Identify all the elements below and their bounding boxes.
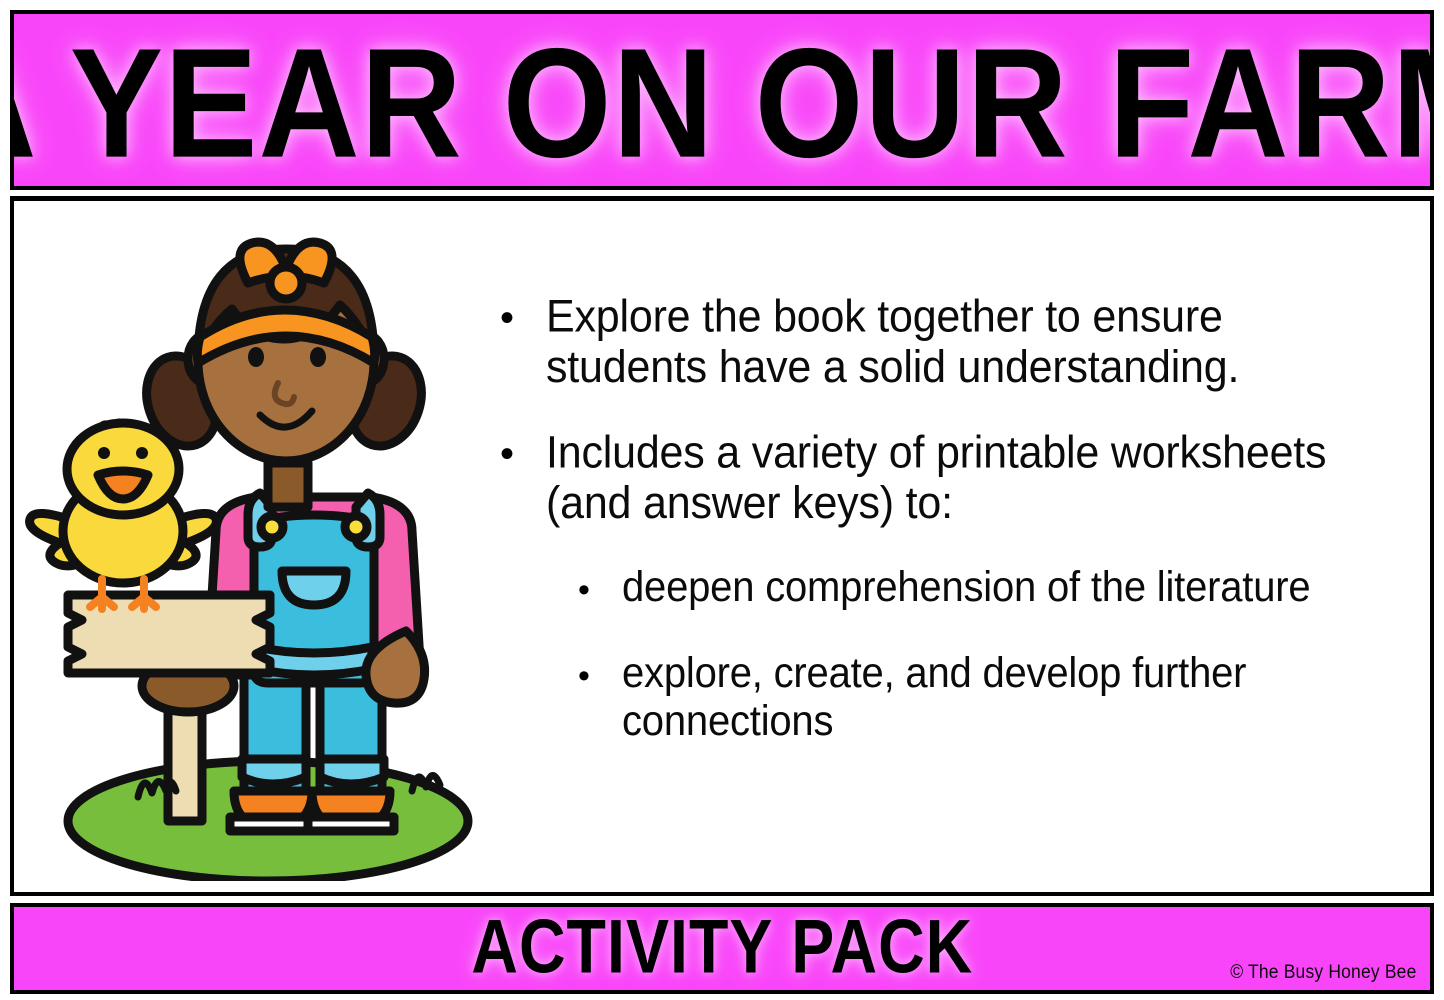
list-item: • Explore the book together to ensure st…	[500, 291, 1380, 387]
bullet-marker-icon: •	[500, 291, 546, 337]
list-item-label: Explore the book together to ensure stud…	[546, 291, 1380, 393]
list-item-label: deepen comprehension of the literature	[622, 564, 1380, 611]
content-panel: • Explore the book together to ensure st…	[10, 196, 1434, 896]
footer-title: ACTIVITY PACK	[14, 912, 1430, 983]
feature-bullet-list: • Explore the book together to ensure st…	[500, 291, 1380, 782]
footer-title-text: ACTIVITY PACK	[471, 904, 973, 991]
list-item: • explore, create, and develop further c…	[578, 650, 1380, 740]
farm-girl-illustration	[20, 231, 500, 881]
poster-root: A YEAR ON OUR FARM	[0, 0, 1444, 1000]
title-banner: A YEAR ON OUR FARM	[10, 10, 1434, 190]
footer-banner: ACTIVITY PACK © The Busy Honey Bee	[10, 903, 1434, 994]
list-item: • deepen comprehension of the literature	[578, 564, 1380, 609]
bullet-marker-icon: •	[578, 564, 622, 606]
copyright-text: © The Busy Honey Bee	[1230, 962, 1416, 984]
list-item-label: explore, create, and develop further con…	[622, 650, 1380, 745]
bullet-marker-icon: •	[578, 650, 622, 692]
list-item-label: Includes a variety of printable workshee…	[546, 427, 1380, 529]
bullet-marker-icon: •	[500, 427, 546, 473]
page-title: A YEAR ON OUR FARM	[10, 19, 1434, 182]
list-item: • Includes a variety of printable worksh…	[500, 427, 1380, 523]
